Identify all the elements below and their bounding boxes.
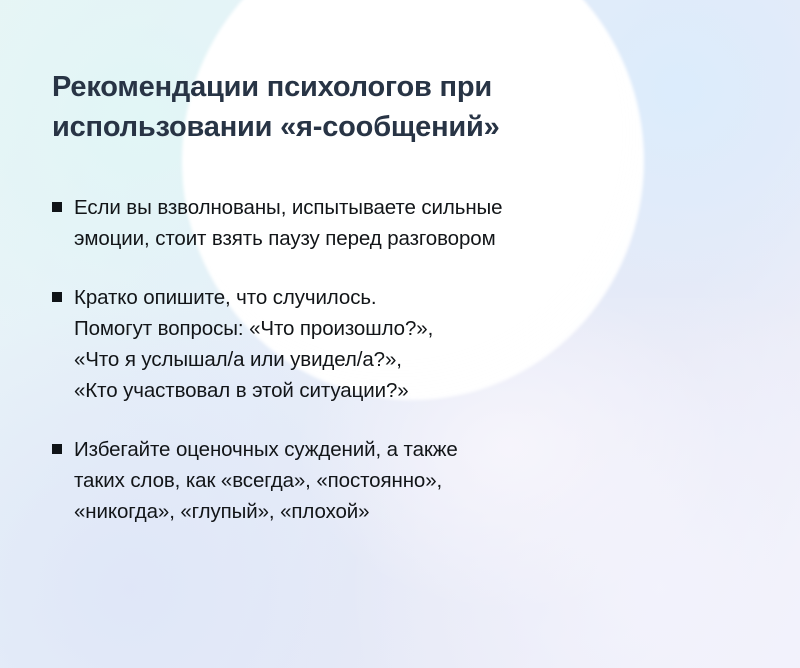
list-item: Кратко опишите, что случилось. Помогут в… [52, 282, 752, 406]
slide-content: Рекомендации психологов при использовани… [0, 0, 800, 668]
page-title: Рекомендации психологов при использовани… [52, 67, 692, 147]
slide-canvas: Рекомендации психологов при использовани… [0, 0, 800, 668]
list-item-text: Избегайте оценочных суждений, а также та… [74, 434, 752, 527]
list-item-line: «никогда», «глупый», «плохой» [74, 496, 752, 527]
list-item-line: Кратко опишите, что случилось. [74, 282, 752, 313]
bullet-list: Если вы взволнованы, испытываете сильные… [52, 192, 752, 527]
list-item-text: Если вы взволнованы, испытываете сильные… [74, 192, 752, 254]
list-item-line: Избегайте оценочных суждений, а также [74, 434, 752, 465]
list-item-line: «Кто участвовал в этой ситуации?» [74, 375, 752, 406]
list-item-line: таких слов, как «всегда», «постоянно», [74, 465, 752, 496]
list-item-line: эмоции, стоит взять паузу перед разговор… [74, 223, 752, 254]
list-item: Избегайте оценочных суждений, а также та… [52, 434, 752, 527]
list-item-line: «Что я услышал/а или увидел/а?», [74, 344, 752, 375]
filled-square-bullet-icon [52, 444, 62, 454]
page-title-line: Рекомендации психологов при [52, 67, 692, 107]
list-item-text: Кратко опишите, что случилось. Помогут в… [74, 282, 752, 406]
page-title-line: использовании «я-сообщений» [52, 107, 692, 147]
list-item-line: Если вы взволнованы, испытываете сильные [74, 192, 752, 223]
list-item-line: Помогут вопросы: «Что произошло?», [74, 313, 752, 344]
list-item: Если вы взволнованы, испытываете сильные… [52, 192, 752, 254]
filled-square-bullet-icon [52, 292, 62, 302]
filled-square-bullet-icon [52, 202, 62, 212]
